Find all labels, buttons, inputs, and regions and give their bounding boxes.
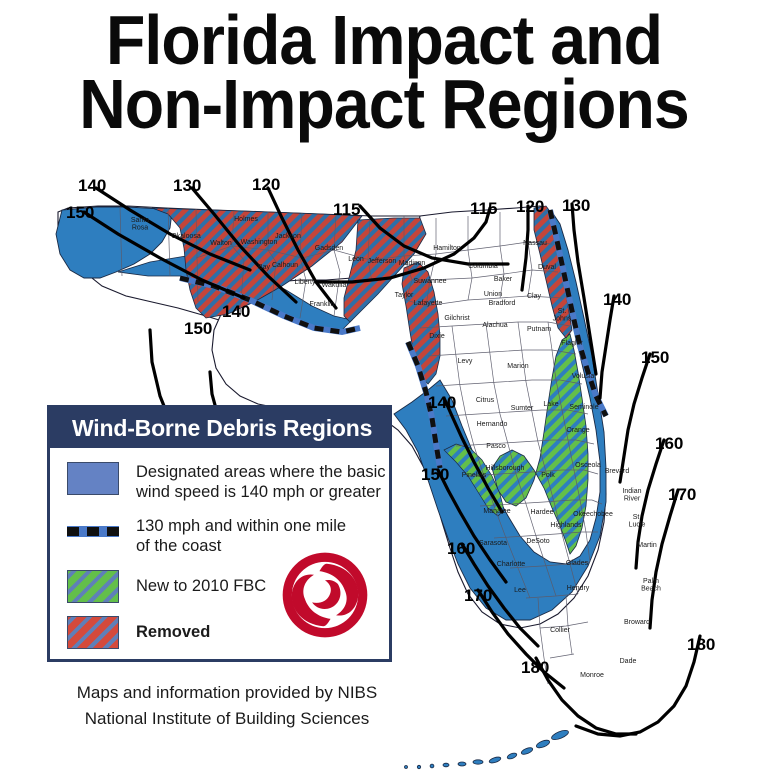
florida-keys <box>405 728 570 768</box>
legend-row-designated-areas: Designated areas where the basic wind sp… <box>50 462 389 503</box>
poster-root: Florida Impact and Non-Impact Regions <box>0 0 768 768</box>
credit-text: Maps and information provided by NIBS Na… <box>47 680 407 731</box>
wind-speed-label: 140 <box>428 393 456 413</box>
wind-speed-label: 170 <box>464 586 492 606</box>
wind-speed-label: 120 <box>252 175 280 195</box>
legend-swatch-cell <box>50 462 136 495</box>
wind-speed-label: 115 <box>333 200 360 220</box>
hurricane-spiral-logo <box>279 549 371 641</box>
legend-swatch-red-hatch <box>67 616 119 649</box>
wind-speed-label: 150 <box>66 203 94 223</box>
page-title: Florida Impact and Non-Impact Regions <box>0 8 768 137</box>
legend-text-line: 130 mph and within one mile <box>136 516 346 536</box>
legend-swatch-green-hatch <box>67 570 119 603</box>
wind-speed-label: 150 <box>421 465 449 485</box>
wind-speed-label: 160 <box>447 539 475 559</box>
legend-header: Wind-Borne Debris Regions <box>50 408 389 448</box>
wind-speed-label: 130 <box>173 176 201 196</box>
legend-swatch-dashed-line <box>67 526 119 537</box>
wind-speed-label: 140 <box>603 290 631 310</box>
wind-speed-label: 180 <box>687 635 715 655</box>
wind-speed-label: 150 <box>184 319 212 339</box>
legend-title: Wind-Borne Debris Regions <box>72 415 372 442</box>
wind-speed-label: 115 <box>470 199 497 219</box>
title-line-1: Florida Impact and <box>31 8 738 72</box>
legend-swatch-solid-blue <box>67 462 119 495</box>
legend-text-line: Designated areas where the basic <box>136 462 385 482</box>
wind-speed-label: 170 <box>668 485 696 505</box>
legend-swatch-cell <box>50 616 136 649</box>
legend-swatch-cell <box>50 516 136 537</box>
legend-label-designated-areas: Designated areas where the basic wind sp… <box>136 462 385 503</box>
legend-panel: Wind-Borne Debris Regions Designated are… <box>47 405 392 662</box>
credit-line-1: Maps and information provided by NIBS <box>47 680 407 706</box>
legend-body: Designated areas where the basic wind sp… <box>50 448 389 649</box>
wind-speed-label: 140 <box>78 176 106 196</box>
wind-speed-label: 130 <box>562 196 590 216</box>
wind-speed-label: 140 <box>222 302 250 322</box>
wind-speed-label: 160 <box>655 434 683 454</box>
credit-line-2: National Institute of Building Sciences <box>47 706 407 732</box>
wind-speed-label: 150 <box>641 348 669 368</box>
legend-text-line: wind speed is 140 mph or greater <box>136 482 385 502</box>
legend-label-new-to-2010-fbc: New to 2010 FBC <box>136 570 266 596</box>
legend-swatch-cell <box>50 570 136 603</box>
wind-speed-label: 180 <box>521 658 549 678</box>
legend-label-removed: Removed <box>136 616 210 642</box>
title-line-2: Non-Impact Regions <box>31 72 738 136</box>
wind-speed-label: 120 <box>516 197 544 217</box>
